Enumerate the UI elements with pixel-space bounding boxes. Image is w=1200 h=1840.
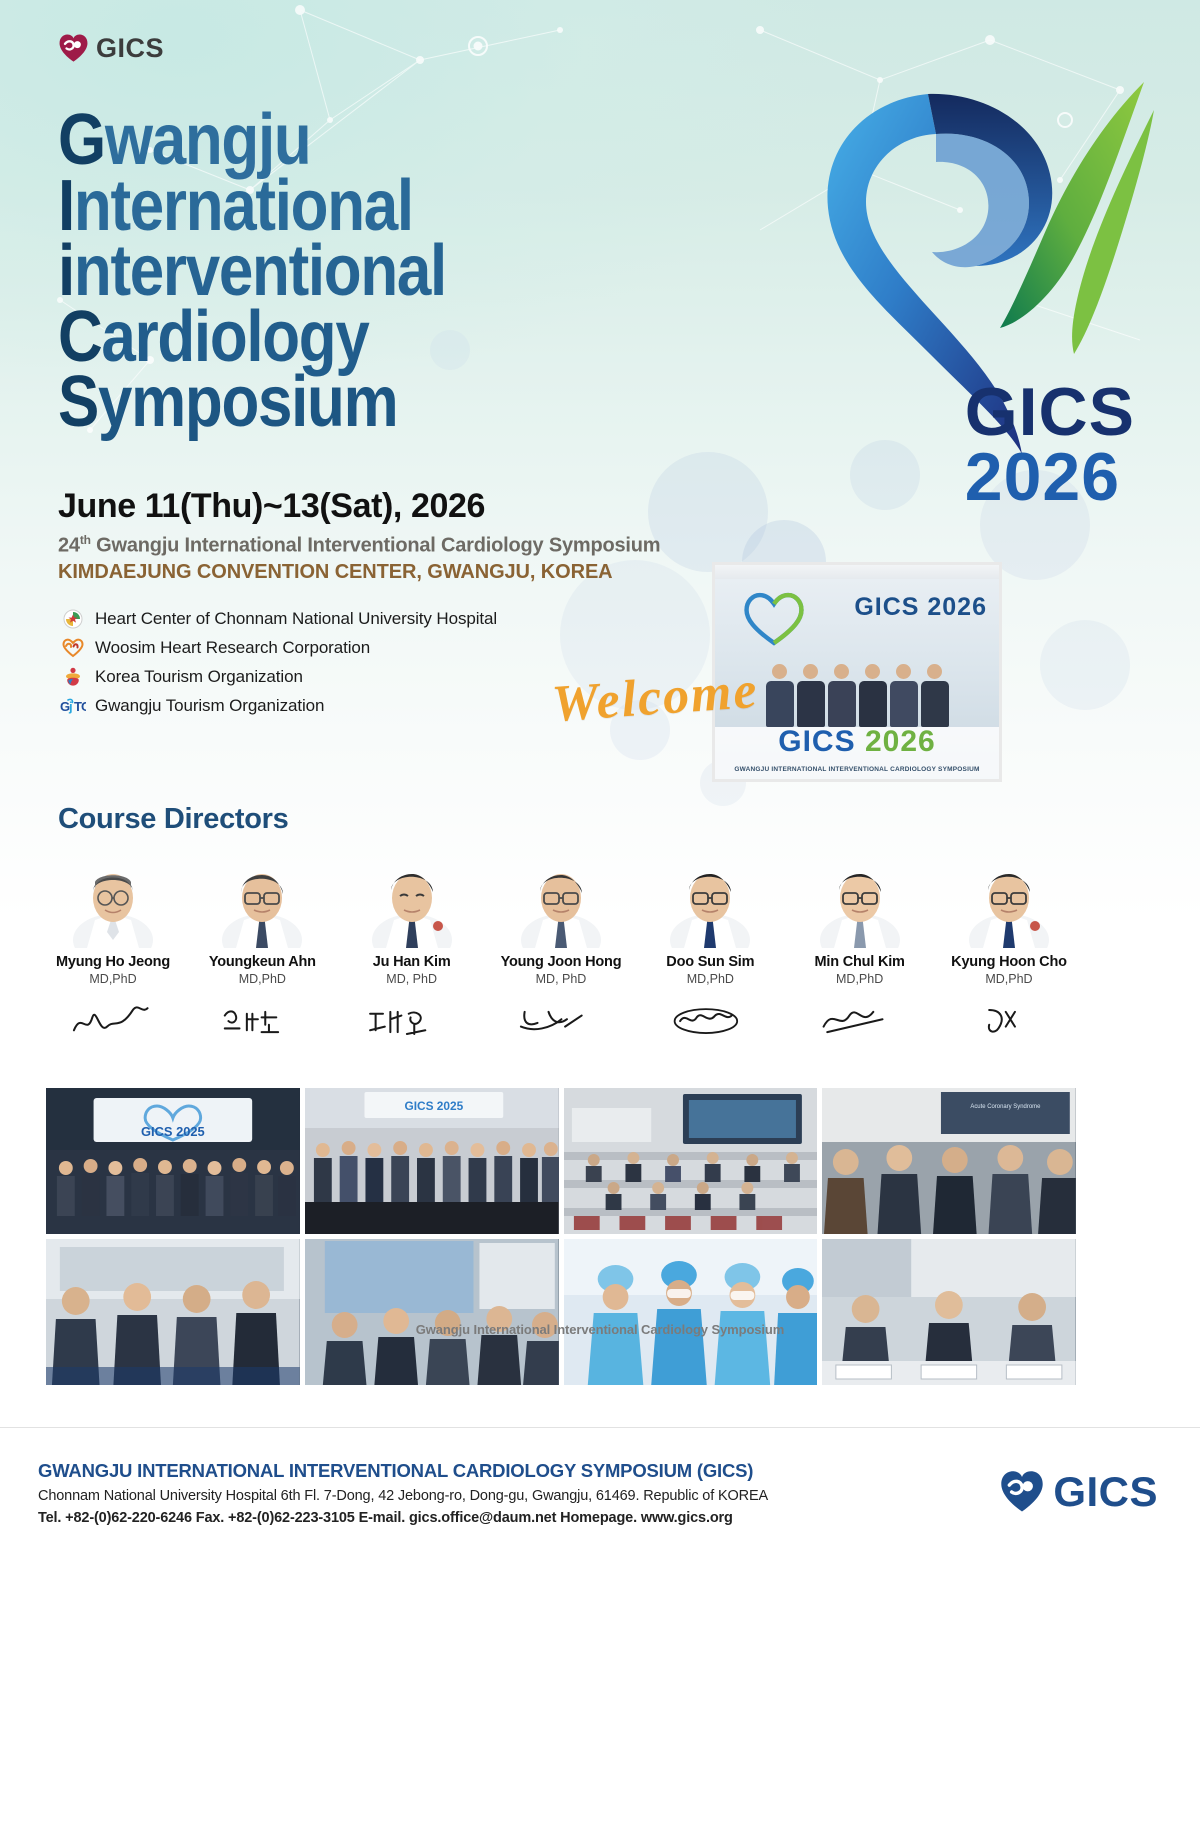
- course-director-card: Kyung Hoon Cho MD,PhD: [942, 862, 1076, 1052]
- cnuh-heart-center-icon: [60, 608, 86, 630]
- organizer-item: G j T O Gwangju Tourism Organization: [60, 693, 497, 718]
- gallery-photo: GICS 2025: [305, 1088, 559, 1234]
- organizer-label: Gwangju Tourism Organization: [95, 696, 324, 716]
- course-directors-grid: Myung Ho Jeong MD,PhD: [46, 862, 1076, 1052]
- title-line-1: Gwangju: [58, 108, 446, 174]
- event-venue: KIMDAEJUNG CONVENTION CENTER, GWANGJU, K…: [58, 561, 613, 584]
- signature-young-joon-hong: [494, 992, 628, 1052]
- poster-title: Gwangju International interventional Car…: [58, 108, 509, 436]
- director-degree: MD, PhD: [494, 972, 628, 986]
- director-degree: MD,PhD: [793, 972, 927, 986]
- footer-org-title: GWANGJU INTERNATIONAL INTERVENTIONAL CAR…: [38, 1460, 768, 1482]
- gallery-photo: [564, 1239, 818, 1385]
- course-director-card: Young Joon Hong MD, PhD: [494, 862, 628, 1052]
- signature-kyung-hoon-cho: [942, 992, 1076, 1052]
- logo-word-gics: GICS: [965, 380, 1135, 445]
- edition-number: 24: [58, 535, 80, 557]
- organizer-item: Woosim Heart Research Corporation: [60, 635, 497, 660]
- card-person: [797, 664, 825, 727]
- footer-address: Chonnam National University Hospital 6th…: [38, 1488, 768, 1504]
- director-degree: MD,PhD: [46, 972, 180, 986]
- organizer-label: Woosim Heart Research Corporation: [95, 638, 370, 658]
- director-degree: MD, PhD: [345, 972, 479, 986]
- card-logo-year: 2026: [865, 725, 936, 758]
- gics-2026-logo: GICS 2026: [750, 70, 1170, 470]
- director-degree: MD,PhD: [643, 972, 777, 986]
- svg-text:O: O: [81, 699, 86, 714]
- title-line-4: Cardiology: [58, 305, 446, 371]
- signature-min-chul-kim: [793, 992, 927, 1052]
- course-director-card: Youngkeun Ahn MD,PhD: [195, 862, 329, 1052]
- organizer-label: Korea Tourism Organization: [95, 667, 303, 687]
- director-degree: MD,PhD: [195, 972, 329, 986]
- svg-text:GICS 2025: GICS 2025: [141, 1124, 205, 1139]
- director-portrait: [216, 862, 308, 948]
- director-portrait: [814, 862, 906, 948]
- photo-gallery: GICS 2025: [46, 1088, 1076, 1385]
- footer-contact: GWANGJU INTERNATIONAL INTERVENTIONAL CAR…: [38, 1460, 768, 1526]
- director-portrait: [664, 862, 756, 948]
- heart-swirl-icon: [999, 1469, 1045, 1515]
- bokeh-circle: [1040, 620, 1130, 710]
- footer-logo: GICS: [999, 1468, 1158, 1516]
- director-name: Min Chul Kim: [793, 954, 927, 970]
- svg-text:Acute Coronary Syndrome: Acute Coronary Syndrome: [971, 1104, 1042, 1110]
- organizer-list: Heart Center of Chonnam National Univers…: [60, 606, 497, 722]
- brand-logo-header: GICS: [58, 33, 164, 64]
- edition-name: Gwangju International Interventional Car…: [91, 535, 661, 557]
- gallery-photo: [564, 1088, 818, 1234]
- card-year-text: GICS 2026: [854, 593, 987, 622]
- svg-text:GICS 2025: GICS 2025: [404, 1099, 463, 1113]
- card-person: [766, 664, 794, 727]
- event-edition: 24th Gwangju International Interventiona…: [58, 533, 660, 558]
- director-portrait: [67, 862, 159, 948]
- director-portrait: [366, 862, 458, 948]
- photo-content: GICS 2026 GICS 2026 GWANGJU INTERNATIONA…: [715, 579, 999, 779]
- gallery-photo: [822, 1239, 1076, 1385]
- course-director-card: Myung Ho Jeong MD,PhD: [46, 862, 180, 1052]
- director-name: Youngkeun Ahn: [195, 954, 329, 970]
- card-logo: GICS 2026: [715, 725, 999, 759]
- organizer-item: Korea Tourism Organization: [60, 664, 497, 689]
- footer-contact-line: Tel. +82-(0)62-220-6246 Fax. +82-(0)62-2…: [38, 1510, 768, 1526]
- poster-canvas: GICS Gwangju International interventiona…: [0, 0, 1200, 1840]
- organizer-label: Heart Center of Chonnam National Univers…: [95, 609, 497, 629]
- director-name: Young Joon Hong: [494, 954, 628, 970]
- course-director-card: Ju Han Kim MD, PhD: [345, 862, 479, 1052]
- title-line-3: interventional: [58, 239, 446, 305]
- title-line-2: International: [58, 174, 446, 240]
- logo-word-year: 2026: [965, 445, 1135, 510]
- card-person: [890, 664, 918, 727]
- heart-swirl-icon: [58, 33, 89, 64]
- gjto-icon: G j T O: [60, 695, 86, 717]
- course-director-card: Min Chul Kim MD,PhD: [793, 862, 927, 1052]
- course-directors-heading: Course Directors: [58, 803, 289, 836]
- director-name: Myung Ho Jeong: [46, 954, 180, 970]
- title-initial-s: S: [58, 362, 98, 442]
- card-person: [828, 664, 856, 727]
- gallery-photo: [305, 1239, 559, 1385]
- woosim-heart-icon: [60, 637, 86, 659]
- director-degree: MD,PhD: [942, 972, 1076, 986]
- director-portrait: [515, 862, 607, 948]
- footer-logo-text: GICS: [1053, 1468, 1158, 1516]
- title-line-5: Symposium: [58, 370, 446, 436]
- card-person: [921, 664, 949, 727]
- signature-myung-ho-jeong: [46, 992, 180, 1052]
- card-heart-icon: [743, 591, 805, 647]
- director-portrait: [963, 862, 1055, 948]
- logo-wordmark: GICS 2026: [965, 380, 1135, 511]
- signature-youngkeun-ahn: [195, 992, 329, 1052]
- gallery-photo: [46, 1239, 300, 1385]
- gallery-caption: Gwangju International Interventional Car…: [0, 1322, 1200, 1337]
- gallery-photo: Acute Coronary Syndrome: [822, 1088, 1076, 1234]
- signature-doo-sun-sim: [643, 992, 777, 1052]
- event-date: June 11(Thu)~13(Sat), 2026: [58, 487, 485, 526]
- korea-tourism-icon: [60, 666, 86, 688]
- footer-divider: [0, 1427, 1200, 1428]
- card-person: [859, 664, 887, 727]
- photo-banner-strip: [715, 565, 999, 579]
- director-name: Ju Han Kim: [345, 954, 479, 970]
- card-logo-gics: GICS: [778, 725, 855, 758]
- gallery-photo: GICS 2025: [46, 1088, 300, 1234]
- course-director-card: Doo Sun Sim MD,PhD: [643, 862, 777, 1052]
- title-rest-5: ymposium: [98, 362, 397, 442]
- director-name: Kyung Hoon Cho: [942, 954, 1076, 970]
- brand-logo-text: GICS: [96, 33, 164, 64]
- edition-ordinal: th: [80, 533, 91, 547]
- organizer-item: Heart Center of Chonnam National Univers…: [60, 606, 497, 631]
- director-name: Doo Sun Sim: [643, 954, 777, 970]
- signature-ju-han-kim: [345, 992, 479, 1052]
- card-caption: GWANGJU INTERNATIONAL INTERVENTIONAL CAR…: [715, 766, 999, 773]
